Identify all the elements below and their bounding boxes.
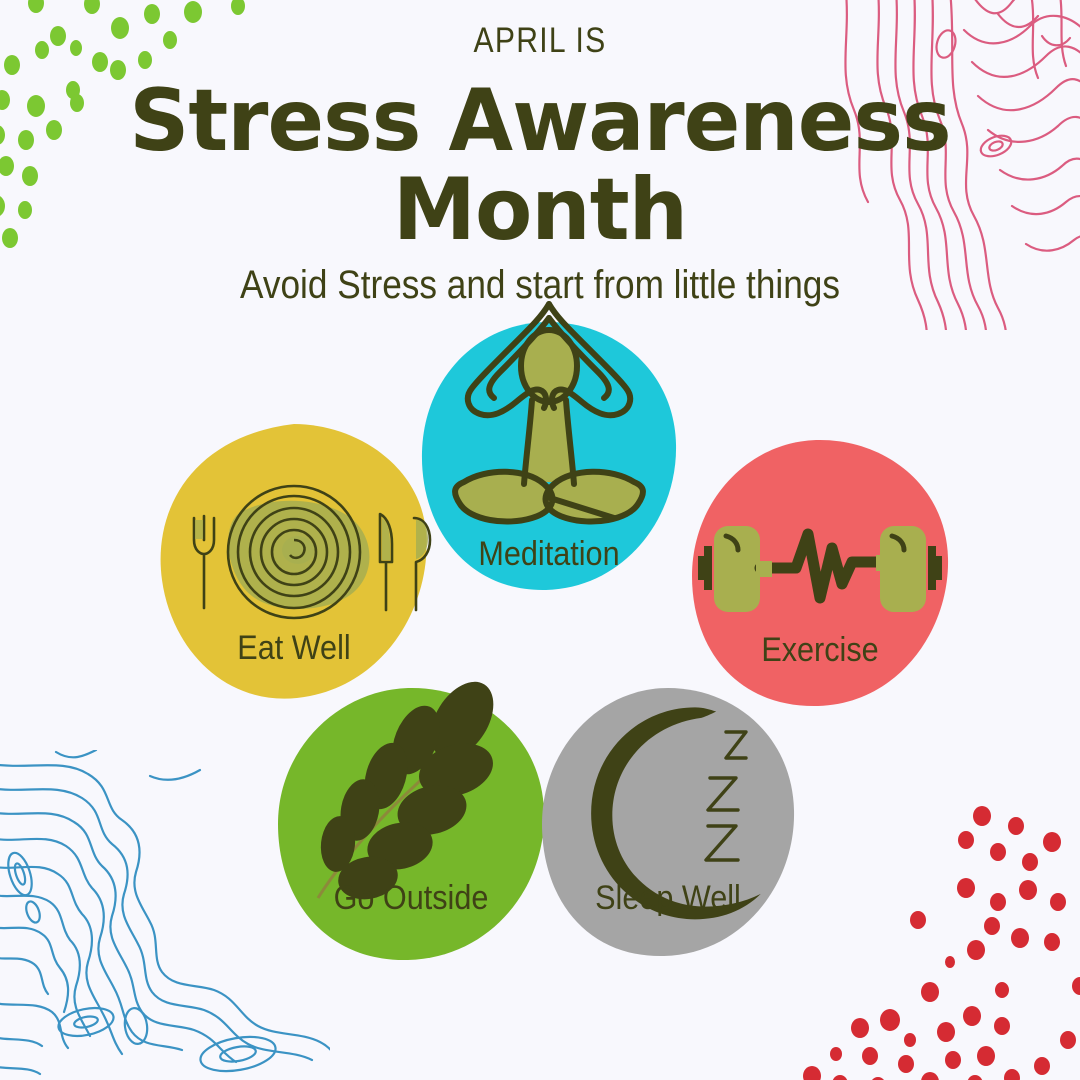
- red-dot-cluster-decoration: [790, 790, 1080, 1080]
- blob-shape-sleep-well: [542, 688, 794, 956]
- tip-card-meditation[interactable]: Meditation: [418, 296, 680, 596]
- tip-card-exercise[interactable]: Exercise: [690, 438, 950, 708]
- poster-canvas: APRIL IS Stress Awareness Month Avoid St…: [0, 0, 1080, 1080]
- poster-heading-group: APRIL IS Stress Awareness Month Avoid St…: [0, 22, 1080, 307]
- page-title: Stress Awareness Month: [16, 77, 1064, 256]
- tip-card-sleep-well[interactable]: Sleep Well: [540, 686, 796, 958]
- tip-card-go-outside[interactable]: Go Outside: [276, 684, 546, 962]
- subtitle-text: Avoid Stress and start from little thing…: [65, 263, 1015, 307]
- eyebrow-text: APRIL IS: [76, 22, 1005, 61]
- tip-card-eat-well[interactable]: Eat Well: [158, 422, 430, 700]
- lotus-yoga-pose-icon: [455, 304, 643, 522]
